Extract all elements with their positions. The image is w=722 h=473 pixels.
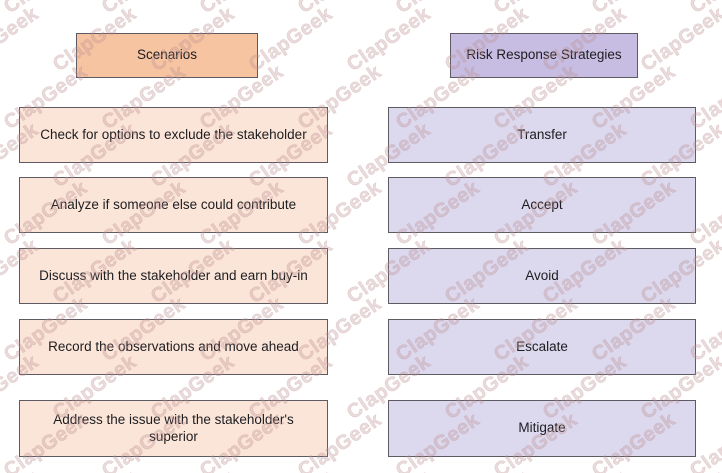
diagram-canvas: Scenarios Check for options to exclude t… xyxy=(0,0,722,473)
scenario-row-2-label: Analyze if someone else could contribute xyxy=(51,197,296,214)
scenario-row-3[interactable]: Discuss with the stakeholder and earn bu… xyxy=(19,248,328,304)
strategy-row-2-label: Accept xyxy=(521,197,562,214)
strategy-row-3[interactable]: Avoid xyxy=(388,248,696,304)
scenario-row-5-label: Address the issue with the stakeholder's… xyxy=(28,412,319,446)
strategy-row-2[interactable]: Accept xyxy=(388,177,696,233)
scenario-row-4[interactable]: Record the observations and move ahead xyxy=(19,319,328,375)
scenario-row-4-label: Record the observations and move ahead xyxy=(48,339,299,356)
scenario-row-5[interactable]: Address the issue with the stakeholder's… xyxy=(19,400,328,457)
strategy-row-1-label: Transfer xyxy=(517,127,567,144)
strategy-row-5[interactable]: Mitigate xyxy=(388,400,696,457)
strategies-header-box: Risk Response Strategies xyxy=(450,33,638,78)
scenario-row-1[interactable]: Check for options to exclude the stakeho… xyxy=(19,107,328,163)
scenarios-column: Scenarios Check for options to exclude t… xyxy=(19,0,328,473)
scenarios-header-label: Scenarios xyxy=(137,47,197,64)
scenario-row-2[interactable]: Analyze if someone else could contribute xyxy=(19,177,328,233)
strategy-row-4[interactable]: Escalate xyxy=(388,319,696,375)
scenarios-header-box: Scenarios xyxy=(76,33,258,78)
scenario-row-1-label: Check for options to exclude the stakeho… xyxy=(40,127,306,144)
strategy-row-1[interactable]: Transfer xyxy=(388,107,696,163)
strategy-row-5-label: Mitigate xyxy=(518,420,565,437)
strategies-column: Risk Response Strategies Transfer Accept… xyxy=(388,0,696,473)
strategy-row-3-label: Avoid xyxy=(525,268,559,285)
strategy-row-4-label: Escalate xyxy=(516,339,568,356)
scenario-row-3-label: Discuss with the stakeholder and earn bu… xyxy=(39,268,308,285)
strategies-header-label: Risk Response Strategies xyxy=(466,47,621,64)
